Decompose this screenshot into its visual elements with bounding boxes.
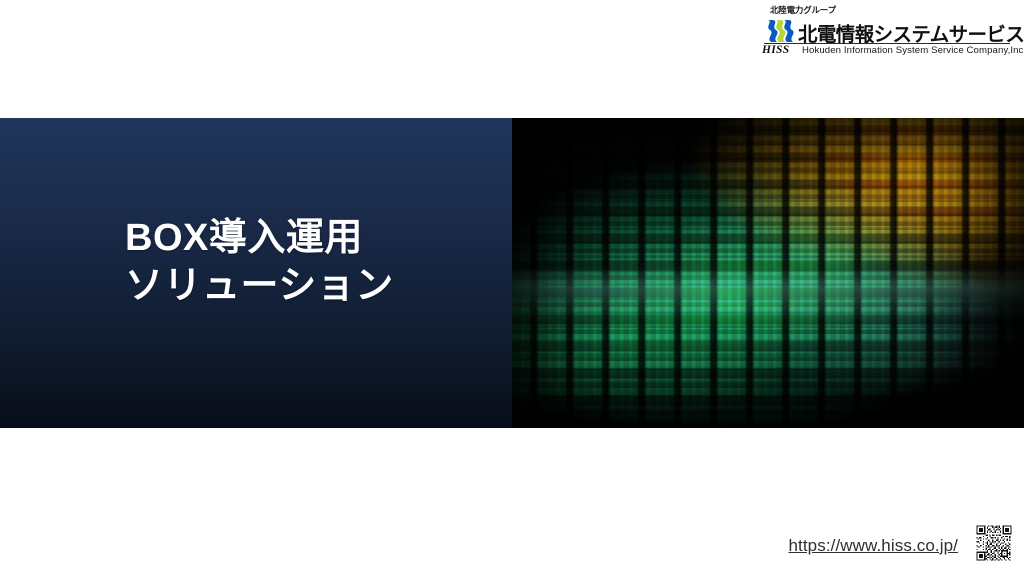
- hero-left-panel: BOX導入運用 ソリューション: [0, 118, 512, 428]
- page-footer: https://www.hiss.co.jp/: [0, 428, 1024, 577]
- page-title: BOX導入運用 ソリューション: [125, 214, 394, 311]
- page-header: 北陸電力グループ 北電情報システムサービス株式会社 HISS Hokuden I…: [0, 0, 1024, 118]
- logo-divider: [764, 43, 1010, 44]
- logo-company-name-en: Hokuden Information System Service Compa…: [802, 45, 1024, 56]
- website-url-link[interactable]: https://www.hiss.co.jp/: [788, 536, 958, 556]
- logo-abbreviation: HISS: [762, 44, 789, 56]
- company-logo[interactable]: 北陸電力グループ 北電情報システムサービス株式会社 HISS Hokuden I…: [762, 4, 1012, 66]
- logo-group-label: 北陸電力グループ: [770, 4, 836, 16]
- qr-code-icon[interactable]: [975, 524, 1013, 562]
- artwork-vignette: [512, 118, 1024, 428]
- hero-artwork-image: [512, 118, 1024, 428]
- hiss-wave-mark-icon: [764, 16, 796, 46]
- hero-banner: BOX導入運用 ソリューション: [0, 118, 1024, 428]
